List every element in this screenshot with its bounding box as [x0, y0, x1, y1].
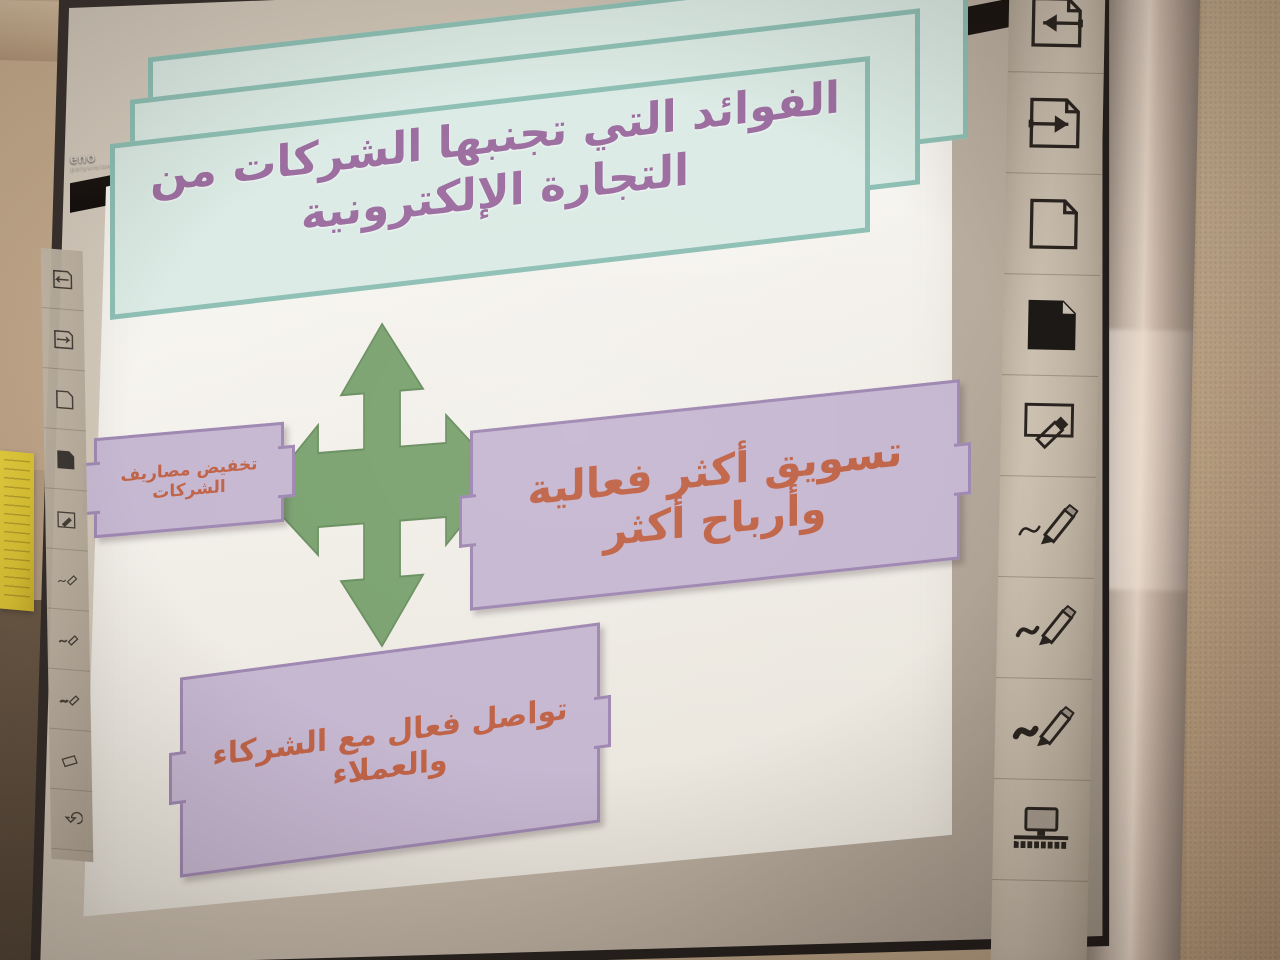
poster-text-lines — [4, 459, 30, 603]
toolbar-left-undo[interactable] — [50, 789, 93, 852]
toolbar-left-pen-thick[interactable] — [48, 669, 91, 732]
toolbar-black-page-button[interactable] — [1002, 274, 1100, 377]
benefit-box-right: تسويق أكثر فعالية وأرباح أكثر — [470, 379, 960, 611]
pen-medium-icon — [1014, 596, 1077, 659]
black-page-icon — [1019, 293, 1082, 356]
toolbar-left-eraser[interactable] — [49, 729, 92, 792]
blank-page-icon — [1021, 192, 1084, 255]
toolbar-left-pen-medium[interactable] — [47, 608, 90, 671]
toolbar-blank-page-button[interactable] — [1004, 173, 1102, 276]
benefit-box-bottom-label: تواصل فعال مع الشركاء والعملاء — [183, 688, 597, 813]
yellow-poster — [0, 451, 34, 612]
pen-thin-icon — [1015, 495, 1078, 558]
toolbar-pen-medium-button[interactable] — [996, 577, 1094, 680]
pen-thick-icon — [1012, 697, 1075, 760]
highlighter-icon — [1017, 394, 1080, 457]
toolbar-previous-page-button[interactable] — [1008, 0, 1106, 74]
right-toolbar[interactable] — [990, 0, 1105, 960]
toolbar-pen-thick-button[interactable] — [994, 678, 1092, 781]
toolbar-next-page-button[interactable] — [1006, 72, 1104, 175]
benefit-box-left-label: تخفيض مصاريف الشركات — [97, 452, 281, 508]
toolbar-left-next-page[interactable] — [42, 308, 85, 371]
toolbar-left-pen-thin[interactable] — [46, 548, 89, 611]
classroom-photo-scene: eno polyvision الفوائد التي تجنبها الشرك… — [0, 0, 1280, 960]
toolbar-left-highlighter[interactable] — [45, 488, 88, 551]
toolbar-keyboard-button[interactable] — [992, 779, 1090, 882]
toolbar-left-black-page[interactable] — [44, 428, 87, 491]
benefit-box-left: تخفيض مصاريف الشركات — [94, 422, 284, 539]
toolbar-left-blank-page[interactable] — [43, 368, 86, 431]
benefit-box-right-label: تسويق أكثر فعالية وأرباح أكثر — [473, 421, 957, 570]
benefit-box-bottom: تواصل فعال مع الشركاء والعملاء — [180, 622, 600, 877]
keyboard-icon — [1010, 798, 1073, 861]
toolbar-left-previous-page[interactable] — [41, 248, 84, 311]
toolbar-pen-thin-button[interactable] — [998, 476, 1096, 579]
next-page-icon — [1023, 91, 1086, 154]
toolbar-highlighter-button[interactable] — [1000, 375, 1098, 478]
previous-page-icon — [1025, 0, 1088, 54]
four-way-arrow-icon — [282, 312, 482, 658]
slide-content: الفوائد التي تجنبها الشركات من التجارة ا… — [70, 0, 970, 950]
